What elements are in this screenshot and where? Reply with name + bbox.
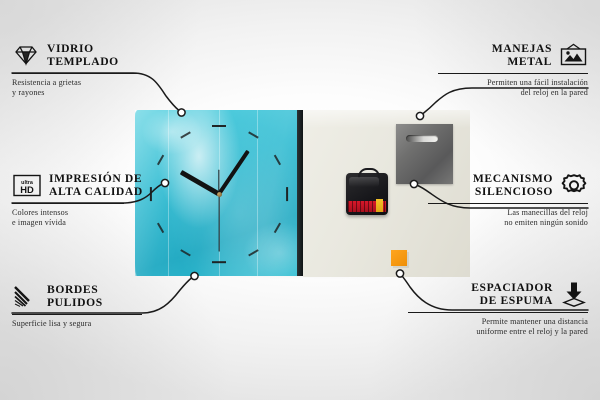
hour-mark [212,261,226,263]
mechanism-shine [349,177,379,187]
feature-title-line: SILENCIOSO [473,185,553,198]
feature-rule [438,73,588,74]
feature-vidrio-templado: VIDRIO TEMPLADO Resistencia a grietas y … [12,42,162,98]
hanger-slot [406,135,438,142]
hour-mark [286,187,288,201]
feature-title-line: MANEJAS [492,42,552,55]
second-hand [218,194,219,252]
feature-title-line: MECANISMO [473,172,553,185]
feature-desc-line: e imagen vívida [12,218,172,228]
feature-rule [428,203,588,204]
feature-desc-line: Colores intensos [12,208,172,218]
foam-spacer-icon [560,281,588,307]
feature-title-line: METAL [492,55,552,68]
diamond-icon [12,44,40,66]
polished-edges-icon [12,285,40,308]
svg-text:HD: HD [20,184,34,195]
gear-icon [560,172,588,198]
feature-desc-line: Permite mantener una distancia [408,317,588,327]
mechanism-label [348,201,386,212]
feature-desc-line: y rayones [12,88,162,98]
feature-title-line: IMPRESIÓN DE [49,172,143,185]
feature-title-line: VIDRIO [47,42,119,55]
feature-title-line: TEMPLADO [47,55,119,68]
hands-hub [217,192,222,197]
feature-desc-line: Las manecillas del reloj [428,208,588,218]
feature-rule [12,314,142,315]
picture-hanger-icon [559,43,588,67]
feature-impresion-alta-calidad: ultra HD IMPRESIÓN DE ALTA CALIDAD Color… [12,172,172,228]
feature-desc-line: uniforme entre el reloj y la pared [408,327,588,337]
feature-title-line: DE ESPUMA [471,294,553,307]
feature-title-line: BORDES [47,283,103,296]
feature-desc-line: Superficie lisa y segura [12,319,182,329]
label-badge [376,199,383,212]
feature-bordes-pulidos: BORDES PULIDOS Superficie lisa y segura [12,283,182,329]
feature-rule [408,312,588,313]
feature-rule [12,73,137,74]
feature-desc-line: no emiten ningún sonido [428,218,588,228]
clock-mechanism [346,173,388,215]
product-image [135,110,471,277]
feature-manejas-metal: MANEJAS METAL Permiten una fácil instala… [438,42,588,98]
feature-mecanismo-silencioso: MECANISMO SILENCIOSO Las manecillas del … [428,172,588,228]
hour-mark [212,125,226,127]
feature-desc-line: del reloj en la pared [438,88,588,98]
feature-desc-line: Permiten una fácil instalación [438,78,588,88]
feature-title-line: PULIDOS [47,296,103,309]
ultra-hd-icon: ultra HD [12,173,42,198]
foam-spacer [391,250,407,266]
feature-espaciador-espuma: ESPACIADOR DE ESPUMA Permite mantener un… [408,281,588,337]
feature-desc-line: Resistencia a grietas [12,78,162,88]
feature-title-line: ESPACIADOR [471,281,553,294]
feature-title-line: ALTA CALIDAD [49,185,143,198]
feature-rule [12,203,124,204]
product-infographic: VIDRIO TEMPLADO Resistencia a grietas y … [0,0,600,400]
